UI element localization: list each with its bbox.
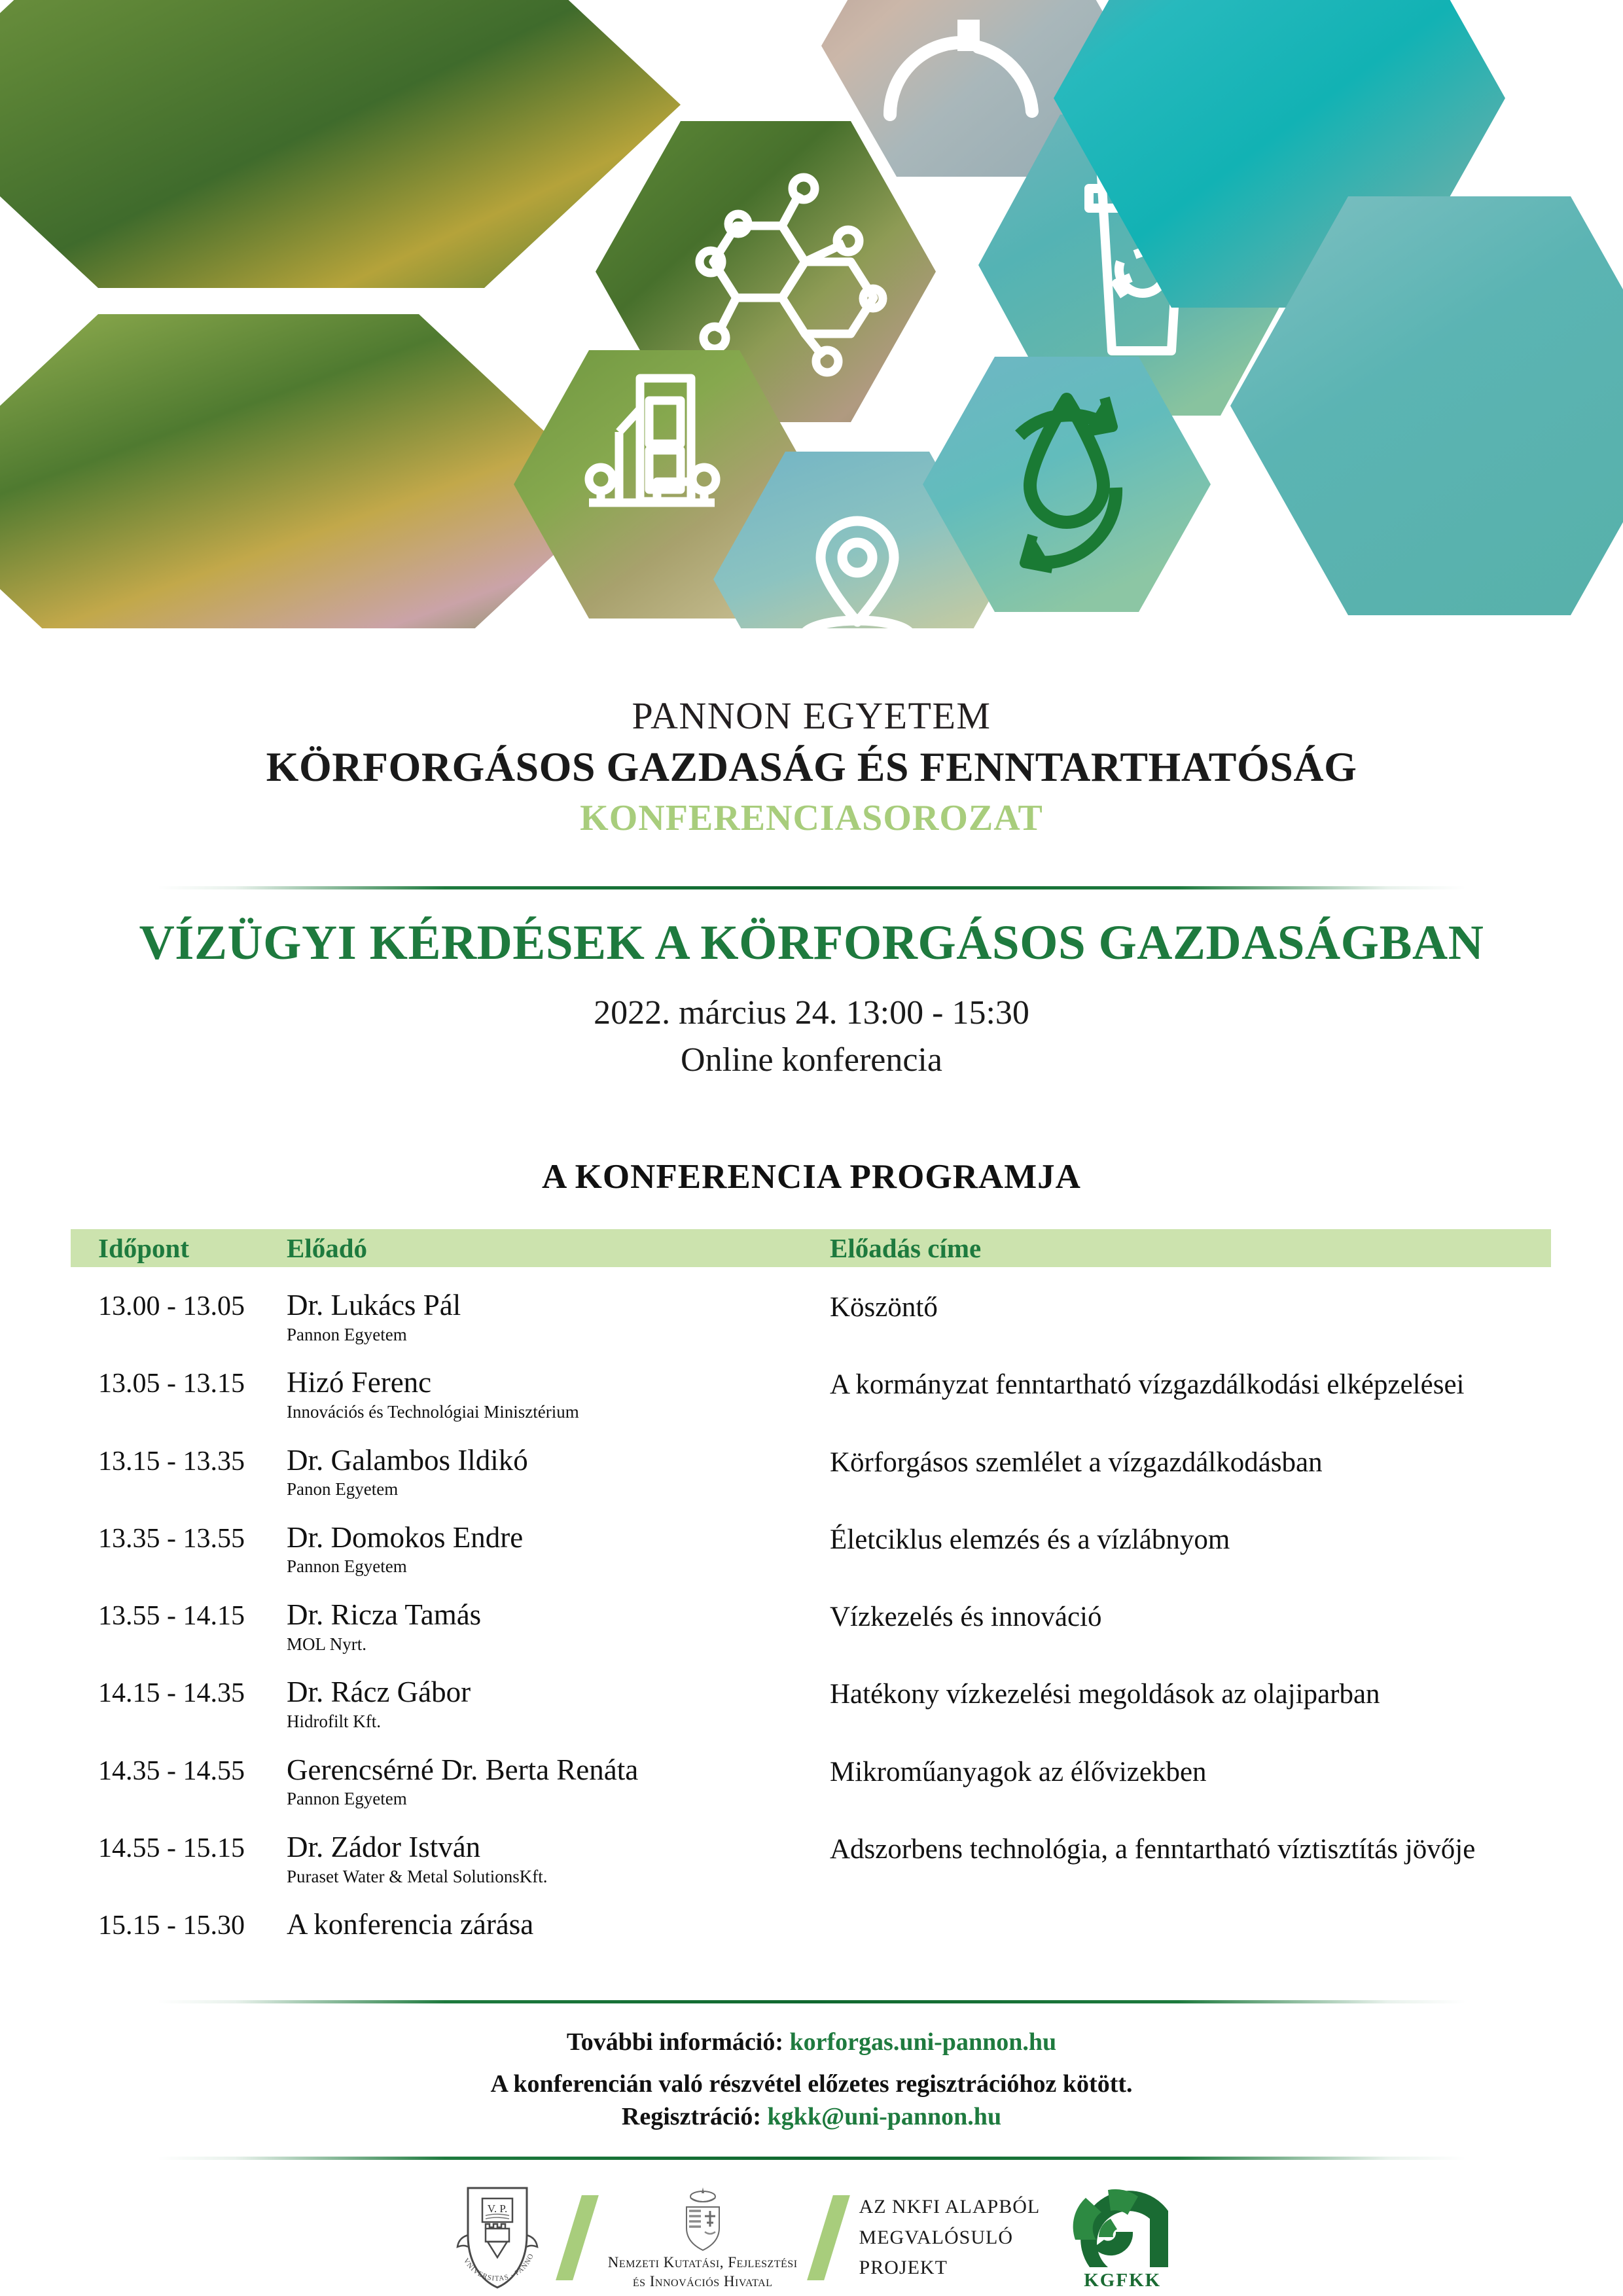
more-info-label: További információ:: [567, 2028, 790, 2056]
nkfi-logo: Nemzeti Kutatási, Fejlesztési és Innovác…: [608, 2185, 798, 2291]
more-info-link[interactable]: korforgas.uni-pannon.hu: [790, 2028, 1057, 2056]
table-row: 13.05 - 13.15Hizó FerencInnovációs és Te…: [71, 1367, 1551, 1422]
row-time: 13.15 - 13.35: [71, 1444, 287, 1477]
row-affiliation: MOL Nyrt.: [287, 1635, 830, 1655]
hungary-coat-of-arms-icon: [677, 2185, 728, 2253]
row-speaker: Dr. Ricza TamásMOL Nyrt.: [287, 1599, 830, 1654]
nkfi-line-1: Nemzeti Kutatási, Fejlesztési: [608, 2253, 798, 2272]
row-title: Életciklus elemzés és a vízlábnyom: [830, 1522, 1551, 1556]
row-time: 13.35 - 13.55: [71, 1522, 287, 1554]
row-speaker: Dr. Rácz GáborHidrofilt Kft.: [287, 1676, 830, 1731]
row-time: 13.05 - 13.15: [71, 1367, 287, 1399]
row-time: 13.00 - 13.05: [71, 1289, 287, 1322]
row-time: 14.15 - 14.35: [71, 1676, 287, 1709]
row-speaker: Dr. Lukács PálPannon Egyetem: [287, 1289, 830, 1344]
row-affiliation: Puraset Water & Metal SolutionsKft.: [287, 1867, 830, 1887]
nkfi-line-2: és Innovációs Hivatal: [608, 2272, 798, 2291]
registration-email-link[interactable]: kgkk@uni-pannon.hu: [768, 2103, 1002, 2130]
row-time: 13.55 - 14.15: [71, 1599, 287, 1632]
forest-aerial-hex-left-top: [0, 0, 681, 288]
row-affiliation: Panon Egyetem: [287, 1480, 830, 1499]
row-affiliation: Innovációs és Technológiai Minisztérium: [287, 1403, 830, 1422]
row-title: Mikroműanyagok az élővizekben: [830, 1754, 1551, 1788]
row-affiliation: Hidrofilt Kft.: [287, 1712, 830, 1732]
row-title: [830, 1909, 1551, 1911]
program-heading: A KONFERENCIA PROGRAMJA: [0, 1157, 1623, 1196]
slash-divider-1: [556, 2195, 599, 2280]
more-info-line: További információ: korforgas.uni-pannon…: [0, 2028, 1623, 2056]
kgfkk-logo: KGFKK: [1070, 2185, 1175, 2291]
crest-initials: V. P.: [488, 2202, 507, 2215]
table-header-row: Időpont Előadó Előadás címe: [71, 1229, 1551, 1267]
program-table: Időpont Előadó Előadás címe 13.00 - 13.0…: [71, 1229, 1551, 1941]
row-title: A kormányzat fenntartható vízgazdálkodás…: [830, 1367, 1551, 1401]
row-affiliation: Pannon Egyetem: [287, 1789, 830, 1809]
slash-divider-2: [807, 2195, 850, 2280]
table-row: 14.55 - 15.15Dr. Zádor IstvánPuraset Wat…: [71, 1831, 1551, 1886]
series-title: KÖRFORGÁSOS GAZDASÁG ÉS FENNTARTHATÓSÁG: [0, 743, 1623, 791]
project-line-2: MEGVALÓSULÓ: [859, 2223, 1041, 2253]
row-speaker: Dr. Domokos EndrePannon Egyetem: [287, 1522, 830, 1577]
table-row: 15.15 - 15.30A konferencia zárása: [71, 1909, 1551, 1941]
pannon-university-crest: V. P. VNIVERSITAS · PANNONICA: [448, 2184, 546, 2292]
registration-line: Regisztráció: kgkk@uni-pannon.hu: [0, 2102, 1623, 2131]
nkfi-label: Nemzeti Kutatási, Fejlesztési és Innovác…: [608, 2253, 798, 2291]
conference-title: VÍZÜGYI KÉRDÉSEK A KÖRFORGÁSOS GAZDASÁGB…: [0, 915, 1623, 971]
row-title: Körforgásos szemlélet a vízgazdálkodásba…: [830, 1444, 1551, 1479]
row-speaker: Gerencsérné Dr. Berta RenátaPannon Egyet…: [287, 1754, 830, 1809]
column-header-time: Időpont: [71, 1232, 287, 1264]
row-affiliation: Pannon Egyetem: [287, 1557, 830, 1577]
row-speaker: A konferencia zárása: [287, 1909, 830, 1941]
row-speaker: Dr. Zádor IstvánPuraset Water & Metal So…: [287, 1831, 830, 1886]
table-row: 13.55 - 14.15Dr. Ricza TamásMOL Nyrt.Víz…: [71, 1599, 1551, 1654]
column-header-title: Előadás címe: [830, 1232, 1551, 1264]
conference-date: 2022. március 24. 13:00 - 15:30: [0, 994, 1623, 1032]
row-speaker: Dr. Galambos IldikóPanon Egyetem: [287, 1444, 830, 1499]
hex-banner: [0, 0, 1623, 628]
row-time: 14.55 - 15.15: [71, 1831, 287, 1864]
table-row: 13.15 - 13.35Dr. Galambos IldikóPanon Eg…: [71, 1444, 1551, 1499]
registration-note: A konferencián való részvétel előzetes r…: [0, 2070, 1623, 2098]
divider-footer-top: [157, 2000, 1466, 2003]
registration-label: Regisztráció:: [622, 2103, 768, 2130]
series-subtitle: KONFERENCIASOROZAT: [0, 797, 1623, 839]
project-line-1: AZ NKFI ALAPBÓL: [859, 2192, 1041, 2223]
divider-top: [157, 886, 1466, 889]
row-title: Adszorbens technológia, a fenntartható v…: [830, 1831, 1551, 1865]
row-affiliation: Pannon Egyetem: [287, 1325, 830, 1345]
table-row: 13.00 - 13.05Dr. Lukács PálPannon Egyete…: [71, 1289, 1551, 1344]
table-row: 13.35 - 13.55Dr. Domokos EndrePannon Egy…: [71, 1522, 1551, 1577]
row-time: 15.15 - 15.30: [71, 1909, 287, 1941]
nkfi-project-text: AZ NKFI ALAPBÓL MEGVALÓSULÓ PROJEKT: [859, 2192, 1041, 2284]
table-row: 14.35 - 14.55Gerencsérné Dr. Berta Renát…: [71, 1754, 1551, 1809]
logo-strip: V. P. VNIVERSITAS · PANNONICA: [0, 2179, 1623, 2296]
kgfkk-label: KGFKK: [1084, 2270, 1161, 2291]
row-title: Vízkezelés és innováció: [830, 1599, 1551, 1633]
row-time: 14.35 - 14.55: [71, 1754, 287, 1787]
project-line-3: PROJEKT: [859, 2253, 1041, 2284]
organization-name: PANNON EGYETEM: [0, 694, 1623, 738]
row-title: Hatékony vízkezelési megoldások az olaji…: [830, 1676, 1551, 1710]
table-body: 13.00 - 13.05Dr. Lukács PálPannon Egyete…: [71, 1289, 1551, 1941]
column-header-speaker: Előadó: [287, 1232, 830, 1264]
conference-mode: Online konferencia: [0, 1041, 1623, 1079]
row-speaker: Hizó FerencInnovációs és Technológiai Mi…: [287, 1367, 830, 1422]
table-row: 14.15 - 14.35Dr. Rácz GáborHidrofilt Kft…: [71, 1676, 1551, 1731]
divider-footer-bottom: [157, 2157, 1466, 2160]
row-title: Köszöntő: [830, 1289, 1551, 1323]
